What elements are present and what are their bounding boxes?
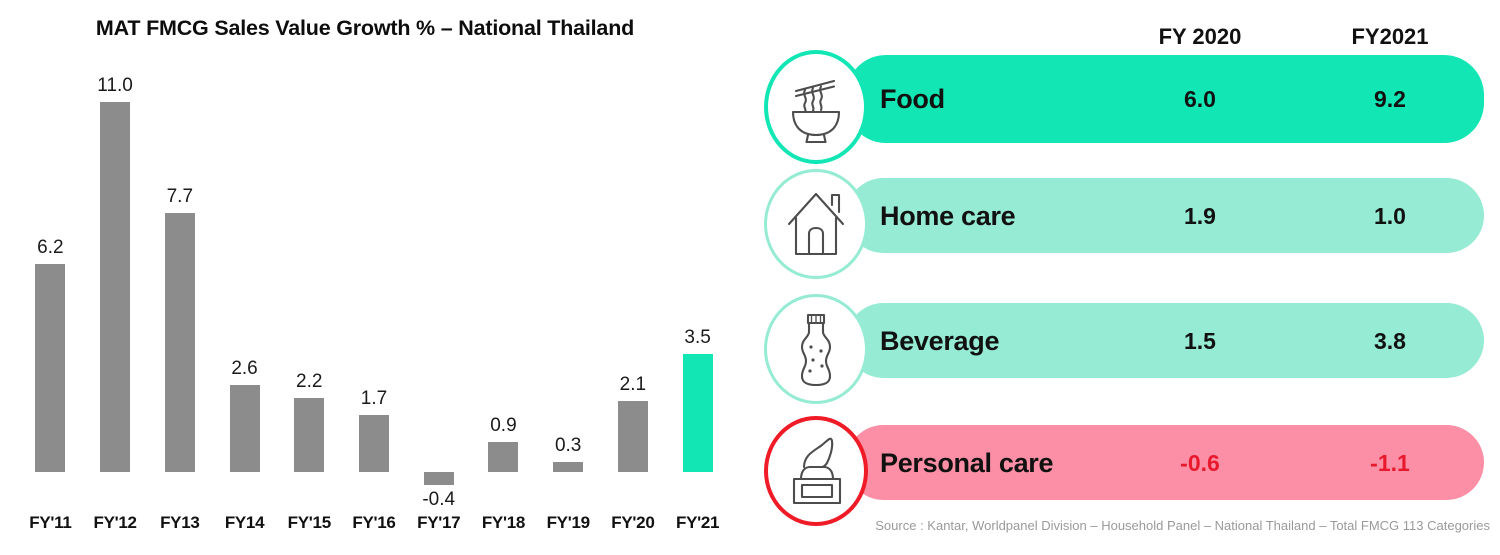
bar-group: 11.0FY'12: [83, 50, 148, 505]
icon-badge-house-icon: [764, 169, 868, 279]
column-header-fy2021: FY2021: [1310, 24, 1470, 50]
house-icon-glyph: [784, 180, 848, 268]
bar-fy20: [618, 401, 648, 472]
bar-fy13: [165, 213, 195, 472]
value-fy2020: -0.6: [1120, 450, 1280, 477]
category-label: Food: [880, 84, 945, 115]
bar-value-label: 6.2: [37, 237, 63, 259]
bar-value-label: 2.1: [620, 374, 646, 396]
bar-group: 2.2FY'15: [277, 50, 342, 505]
bar-fy15: [294, 398, 324, 472]
bar-value-label: 2.6: [231, 358, 257, 380]
bar-fy19: [553, 462, 583, 472]
table-row[interactable]: Home care1.91.0: [750, 178, 1500, 253]
noodle-bowl-icon-glyph: [784, 63, 848, 151]
category-label: Personal care: [880, 448, 1053, 479]
value-fy2021: 9.2: [1310, 86, 1470, 113]
slide-root: MAT FMCG Sales Value Growth % – National…: [0, 0, 1500, 555]
bar-fy12: [100, 102, 130, 472]
value-fy2020: 1.9: [1120, 203, 1280, 230]
bar-fy18: [488, 442, 518, 472]
icon-badge-soda-bottle-icon: [764, 294, 868, 404]
bar-fy16: [359, 415, 389, 472]
table-row[interactable]: Beverage1.53.8: [750, 303, 1500, 378]
table-row[interactable]: Food6.09.2: [750, 55, 1500, 143]
cream-jar-icon-glyph: [784, 427, 848, 515]
axis-label-fy21: FY'21: [676, 513, 719, 533]
axis-label-fy15: FY'15: [288, 513, 331, 533]
bar-group: 7.7FY13: [147, 50, 212, 505]
bar-fy17: [424, 472, 454, 485]
bar-value-label: 1.7: [361, 388, 387, 410]
axis-label-fy14: FY14: [225, 513, 264, 533]
axis-label-fy11: FY'11: [29, 513, 71, 533]
value-fy2020: 6.0: [1120, 86, 1280, 113]
bar-fy14: [230, 385, 260, 472]
value-fy2020: 1.5: [1120, 328, 1280, 355]
axis-label-fy13: FY13: [160, 513, 199, 533]
source-note: Source : Kantar, Worldpanel Division – H…: [750, 518, 1490, 533]
soda-bottle-icon-glyph: [784, 305, 848, 393]
category-label: Beverage: [880, 326, 999, 357]
bar-value-label: 11.0: [97, 75, 133, 97]
bar-value-label: -0.4: [422, 489, 455, 511]
bar-group: 2.1FY'20: [601, 50, 666, 505]
column-header-fy2020: FY 2020: [1120, 24, 1280, 50]
bar-fy21: [683, 354, 713, 472]
bar-group: 6.2FY'11: [18, 50, 83, 505]
category-label: Home care: [880, 201, 1015, 232]
icon-badge-noodle-bowl-icon: [764, 50, 868, 164]
bar-fy11: [35, 264, 65, 472]
bar-value-label: 3.5: [684, 327, 710, 349]
axis-label-fy19: FY'19: [547, 513, 590, 533]
page-title: MAT FMCG Sales Value Growth % – National…: [0, 16, 730, 41]
axis-label-fy20: FY'20: [611, 513, 654, 533]
axis-label-fy12: FY'12: [93, 513, 136, 533]
value-fy2021: -1.1: [1310, 450, 1470, 477]
value-fy2021: 1.0: [1310, 203, 1470, 230]
chart-plot-area: 6.2FY'1111.0FY'127.7FY132.6FY142.2FY'151…: [18, 50, 730, 505]
axis-label-fy18: FY'18: [482, 513, 525, 533]
axis-label-fy17: FY'17: [417, 513, 460, 533]
bar-value-label: 2.2: [296, 371, 322, 393]
bar-value-label: 0.9: [490, 415, 516, 437]
bar-chart-panel: MAT FMCG Sales Value Growth % – National…: [0, 0, 750, 555]
axis-label-fy16: FY'16: [352, 513, 395, 533]
bar-group: 3.5FY'21: [665, 50, 730, 505]
bar-group: 0.3FY'19: [536, 50, 601, 505]
category-table-panel: FY 2020 FY2021 Food6.09.2Home care1.91.0…: [750, 0, 1500, 555]
icon-badge-cream-jar-icon: [764, 416, 868, 526]
bar-group: -0.4FY'17: [406, 50, 471, 505]
bar-group: 1.7FY'16: [342, 50, 407, 505]
bar-group: 2.6FY14: [212, 50, 277, 505]
table-row[interactable]: Personal care-0.6-1.1: [750, 425, 1500, 500]
value-fy2021: 3.8: [1310, 328, 1470, 355]
bar-group: 0.9FY'18: [471, 50, 536, 505]
bar-value-label: 0.3: [555, 435, 581, 457]
bar-value-label: 7.7: [167, 186, 193, 208]
